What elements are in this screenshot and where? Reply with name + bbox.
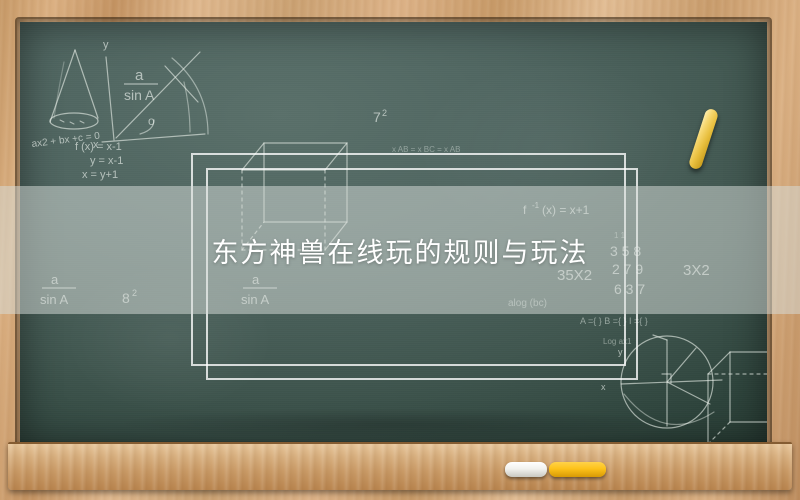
- svg-text:2: 2: [382, 108, 387, 118]
- chalk-ledge: [8, 442, 792, 490]
- white-chalk: [505, 462, 547, 477]
- svg-text:o: o: [148, 114, 155, 128]
- svg-text:x = y+1: x = y+1: [82, 169, 118, 181]
- yellow-chalk: [549, 462, 606, 477]
- svg-text:y: y: [103, 39, 109, 51]
- title-banner: 东方神兽在线玩的规则与玩法: [0, 186, 800, 314]
- chalkboard-banner: a sin A y x o ax2 + bx +c = 0 f (x) = x-…: [0, 0, 800, 500]
- svg-text:sin A: sin A: [124, 87, 155, 103]
- svg-text:a: a: [135, 67, 144, 84]
- page-title: 东方神兽在线玩的规则与玩法: [212, 231, 589, 270]
- svg-text:y = x-1: y = x-1: [90, 155, 123, 167]
- svg-text:x: x: [601, 382, 606, 392]
- svg-text:f (x) = x-1: f (x) = x-1: [75, 141, 122, 153]
- svg-text:7: 7: [373, 109, 381, 125]
